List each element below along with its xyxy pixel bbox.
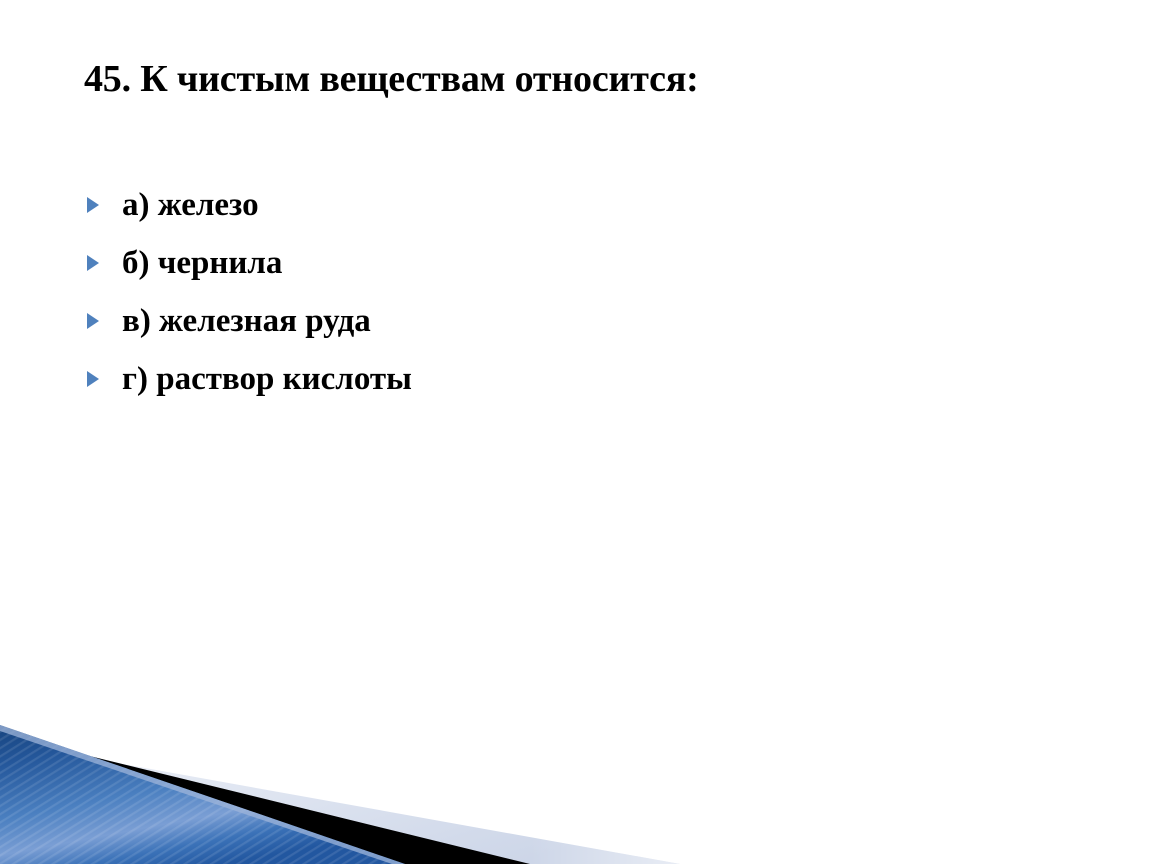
list-item[interactable]: г) раствор кислоты <box>84 350 1024 408</box>
corner-decoration-svg <box>0 714 1150 864</box>
list-item[interactable]: в) железная руда <box>84 292 1024 350</box>
answer-option-label: г) раствор кислоты <box>122 361 412 397</box>
triangle-right-icon <box>87 313 99 329</box>
triangle-right-icon <box>87 371 99 387</box>
triangle-right-icon <box>87 197 99 213</box>
wedge-black <box>0 734 530 864</box>
angles-corner-graphic <box>0 714 1150 864</box>
wedge-pale-highlight <box>0 742 680 864</box>
wedge-blue <box>0 725 405 864</box>
wedge-blue-edge-highlight <box>0 725 405 864</box>
slide-canvas: 45. К чистым веществам относится: а) жел… <box>0 0 1150 864</box>
answer-options-list: а) железо б) чернила в) железная руда г)… <box>84 176 1024 408</box>
page-title: 45. К чистым веществам относится: <box>84 58 1044 102</box>
answer-option-label: а) железо <box>122 187 259 223</box>
answer-option-label: в) железная руда <box>122 303 371 339</box>
answer-option-label: б) чернила <box>122 245 282 281</box>
list-item[interactable]: а) железо <box>84 176 1024 234</box>
triangle-right-icon <box>87 255 99 271</box>
list-item[interactable]: б) чернила <box>84 234 1024 292</box>
wedge-pale <box>0 742 680 864</box>
wedge-blue-texture <box>0 725 405 864</box>
